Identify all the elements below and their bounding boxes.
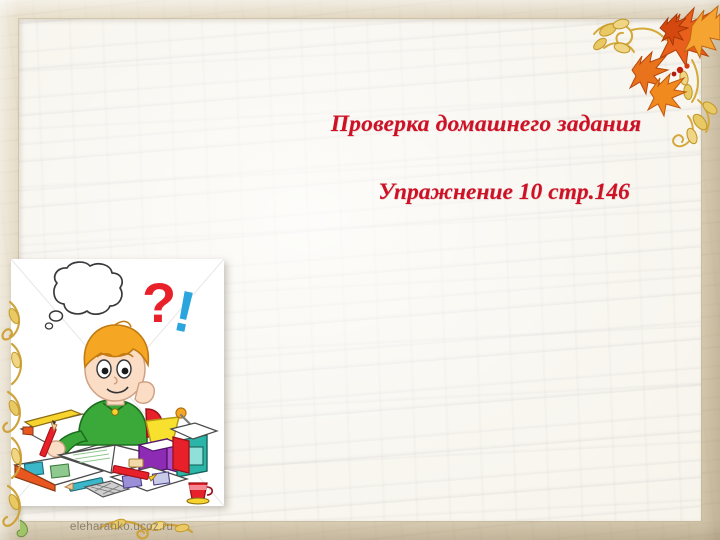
site-watermark: eleharanko.ucoz.ru [70,521,173,533]
page-title: Проверка домашнего задания [300,112,672,138]
eraser [129,459,143,467]
presentation-slide: Проверка домашнего задания Упражнение 10… [0,0,720,540]
exercise-reference: Упражнение 10 стр.146 [336,180,672,206]
book-teal [173,435,207,477]
heading-block: Проверка домашнего задания Упражнение 10… [300,112,672,206]
homework-illustration-svg: ? ! [11,259,224,506]
homework-illustration: ? ! [11,259,224,506]
